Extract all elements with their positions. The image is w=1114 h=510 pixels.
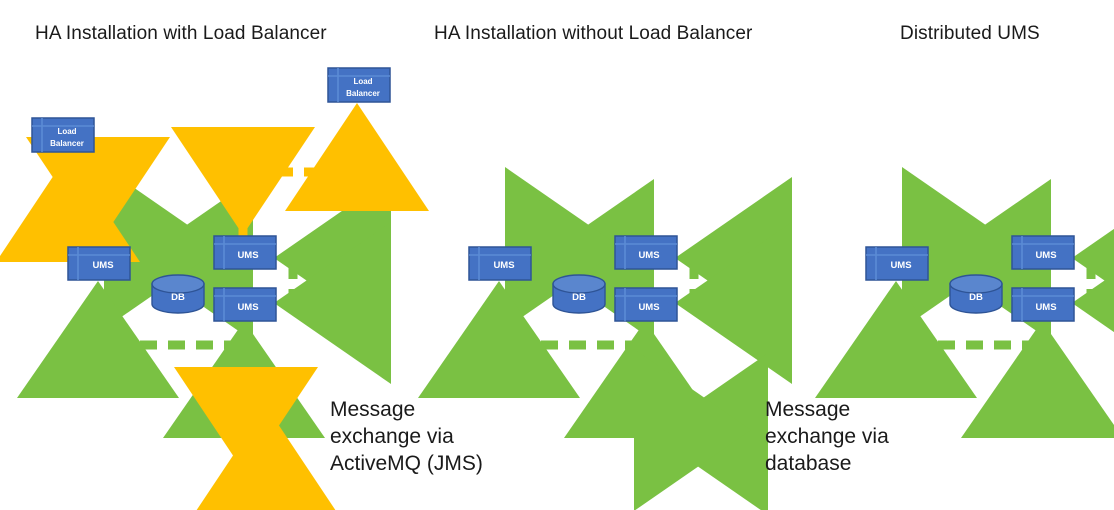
ums-top-right-1-label: UMS [237, 250, 258, 261]
ums-bottom-right-2-label: UMS [638, 302, 659, 313]
ums-bottom-right-3[interactable]: UMS [1012, 288, 1074, 321]
ums-top-right-3-label: UMS [1035, 250, 1056, 261]
legend-database-line-1: Message [765, 396, 945, 423]
legend-jms-line-2: exchange via [330, 423, 500, 450]
ums-left-1-label: UMS [92, 260, 113, 271]
database-1-label: DB [171, 292, 185, 303]
ums-bottom-right-1-label: UMS [237, 302, 258, 313]
load-balancer-right-label-2: Balancer [346, 89, 380, 98]
legend-jms-line-1: Message [330, 396, 500, 423]
load-balancer-left[interactable]: Load Balancer [32, 118, 94, 152]
load-balancer-right[interactable]: Load Balancer [328, 68, 390, 102]
ums-top-right-3[interactable]: UMS [1012, 236, 1074, 269]
load-balancer-left-label-2: Balancer [50, 139, 84, 148]
legend-database-line-2: exchange via [765, 423, 945, 450]
yellow-jms-paths-right [243, 112, 357, 236]
database-3-label: DB [969, 292, 983, 303]
database-2-label: DB [572, 292, 586, 303]
diagram-canvas: HA Installation with Load Balancer HA In… [0, 0, 1114, 510]
legend-database-icon [660, 430, 742, 434]
yellow-jms-paths-left [68, 163, 98, 248]
ums-bottom-right-3-label: UMS [1035, 302, 1056, 313]
legend-jms-icon [246, 415, 266, 476]
legend-jms-line-3: ActiveMQ (JMS) [330, 450, 500, 477]
ums-bottom-right-1[interactable]: UMS [214, 288, 276, 321]
legend-database-line-3: database [765, 450, 945, 477]
load-balancer-left-label-1: Load [57, 127, 76, 136]
ums-left-3-label: UMS [890, 260, 911, 271]
legend-jms-text: Message exchange via ActiveMQ (JMS) [330, 396, 500, 477]
diagram-ha-without-load-balancer: DB UMS UMS UMS [469, 236, 701, 345]
ums-top-right-2[interactable]: UMS [615, 236, 677, 269]
ums-left-3[interactable]: UMS [866, 247, 928, 280]
ums-left-1[interactable]: UMS [68, 247, 130, 280]
legend-database-text: Message exchange via database [765, 396, 945, 477]
ums-left-2-label: UMS [493, 260, 514, 271]
ums-bottom-right-2[interactable]: UMS [615, 288, 677, 321]
ums-top-right-2-label: UMS [638, 250, 659, 261]
database-1[interactable]: DB [152, 275, 204, 313]
load-balancer-right-label-1: Load [353, 77, 372, 86]
diagram-distributed-ums: DB UMS UMS UMS [866, 236, 1098, 345]
diagram-graphics: Load Balancer Load Balancer DB [0, 0, 1114, 510]
database-3[interactable]: DB [950, 275, 1002, 313]
ums-top-right-1[interactable]: UMS [214, 236, 276, 269]
database-2[interactable]: DB [553, 275, 605, 313]
ums-left-2[interactable]: UMS [469, 247, 531, 280]
diagram-ha-with-load-balancer: Load Balancer Load Balancer DB [32, 68, 390, 345]
